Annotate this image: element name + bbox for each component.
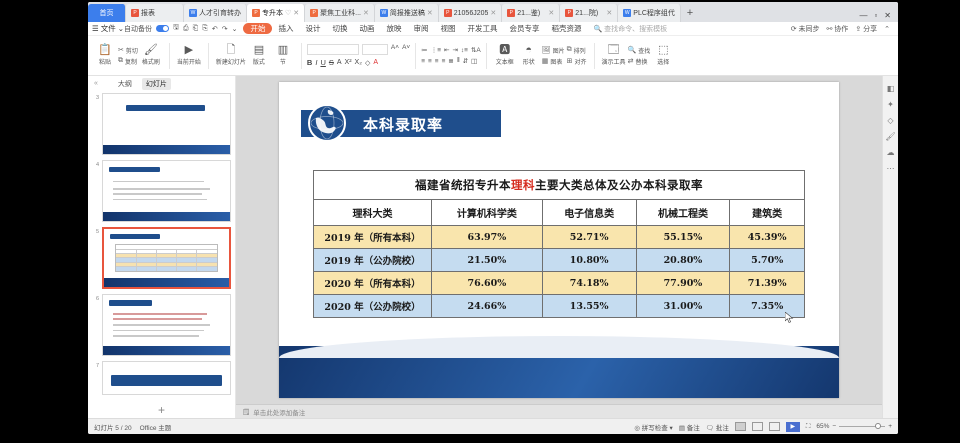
- caption-highlight: 理科: [511, 178, 535, 192]
- text-direction-icon[interactable]: ⇅A: [471, 46, 481, 54]
- new-tab-button[interactable]: +: [681, 4, 699, 22]
- bullet-list-icon[interactable]: ≔: [421, 46, 428, 54]
- tab-outline[interactable]: 大纲: [114, 78, 136, 90]
- chart-label: 图表: [550, 57, 562, 66]
- slide-thumbnail-5-selected[interactable]: [102, 227, 231, 289]
- spellcheck-button[interactable]: ◎ 拼写检查 ▾: [634, 422, 673, 432]
- ribbon-tab-member[interactable]: 会员专享: [503, 22, 545, 36]
- paste-button[interactable]: 📋 粘贴: [94, 45, 116, 66]
- doc-file-icon: W: [623, 9, 631, 17]
- ribbon-tab-docer[interactable]: 稻壳资源: [545, 22, 587, 36]
- replace-button[interactable]: ⇄ 替换: [628, 57, 651, 66]
- italic-button[interactable]: I: [315, 58, 317, 67]
- find-replace-buttons: 🔍 查找 ⇄ 替换: [628, 46, 651, 66]
- hamburger-icon: ☰: [92, 24, 99, 33]
- table-caption-row: 福建省统招专升本理科主要大类总体及公办本科录取率: [314, 171, 805, 200]
- slide-number: 6: [90, 294, 99, 302]
- copy-label: 复制: [125, 57, 137, 66]
- tab-document-2[interactable]: W 人才引育转办: [184, 4, 247, 22]
- pdf-file-icon: P: [507, 9, 515, 17]
- picture-icon: 🖼: [542, 46, 551, 54]
- line-spacing-icon[interactable]: ↕≡: [461, 47, 468, 54]
- th-category: 理科大类: [314, 200, 432, 226]
- chart-button[interactable]: ▦ 图表: [542, 57, 565, 66]
- panel-toggle-icon[interactable]: ◧: [887, 84, 895, 93]
- arrange-buttons: ⧉ 排列 ⊞ 对齐: [567, 46, 587, 66]
- tab-home[interactable]: 首页: [88, 4, 126, 22]
- slide-stage: 本科录取率 福建省统招专升本理科主要大类总体及公办本科录取率 理科大类 计算机科…: [236, 76, 882, 418]
- tab-document-4[interactable]: P 聚焦工业科... ✕: [305, 4, 375, 22]
- caption-after: 主要大类总体及公办本科录取率: [535, 178, 703, 192]
- tab-label: 简报推送稿: [390, 8, 425, 18]
- tab-label: PLC程序组代: [633, 8, 675, 18]
- zoom-in-button[interactable]: +: [888, 423, 892, 430]
- row-label: 2019 年（所有本科）: [314, 226, 432, 249]
- font-group: A˄ A˅ B I U S A X² X₂ ◇ A: [307, 44, 410, 67]
- thumb-footer: [103, 145, 230, 154]
- vertical-align-icon[interactable]: ⇵: [463, 57, 468, 65]
- slide-thumbnail-7[interactable]: [102, 361, 231, 395]
- thumbnail-entry[interactable]: 4: [88, 160, 235, 227]
- strikethrough-button[interactable]: S: [329, 58, 334, 67]
- comment-button[interactable]: 🗨 批注: [706, 422, 729, 432]
- thumbnail-entry[interactable]: 7: [88, 361, 235, 400]
- ribbon-tab-insert[interactable]: 插入: [272, 22, 299, 36]
- tab-label: 21...鉴): [517, 8, 540, 18]
- zoom-track[interactable]: [839, 426, 885, 427]
- window-controls: — ▫ ✕: [852, 11, 898, 22]
- print-preview-icon[interactable]: ⎙: [183, 25, 189, 33]
- customize-icon[interactable]: ⌄: [232, 25, 238, 33]
- find-label: 查找: [638, 46, 650, 55]
- tools-group: 🗔 演示工具 🔍 查找 ⇄ 替换 ⬚ 选择: [600, 36, 677, 75]
- start-show-button[interactable]: ▶ 当前开始: [177, 45, 201, 66]
- subscript-button[interactable]: X₂: [355, 59, 362, 66]
- cell-value: 52.71%: [542, 226, 636, 249]
- thumb-text-line: [113, 330, 204, 332]
- th-me: 机械工程类: [636, 200, 730, 226]
- main-body: « 大纲 幻灯片 3 4: [88, 76, 898, 418]
- text-effects-button[interactable]: A: [337, 59, 342, 66]
- start-show-label: 当前开始: [177, 57, 201, 66]
- toolbar-divider: [169, 43, 170, 69]
- share-button[interactable]: ⇪ 分享: [855, 24, 877, 34]
- format-painter-button[interactable]: 🖌 格式刷: [140, 45, 162, 66]
- status-bar: 幻灯片 5 / 20 Office 主题 ◎ 拼写检查 ▾ ▤ 备注 🗨 批注 …: [88, 418, 898, 434]
- slide-banner-title: 本科录取率: [363, 114, 443, 135]
- thumb-banner: [110, 234, 160, 239]
- more-icon[interactable]: ⋯: [887, 164, 895, 173]
- align-right-icon[interactable]: ≡: [435, 58, 439, 65]
- tab-document-1[interactable]: P 报表: [126, 4, 184, 22]
- reading-view-icon[interactable]: [769, 422, 780, 431]
- globe-icon: [308, 104, 346, 142]
- tab-document-6[interactable]: P 21056J205 ✕: [439, 4, 503, 22]
- slide-thumbnail-4[interactable]: [102, 160, 231, 222]
- table-caption: 福建省统招专升本理科主要大类总体及公办本科录取率: [314, 171, 805, 200]
- maximize-button[interactable]: ▫: [874, 11, 877, 20]
- media-buttons: 🖼 图片 ▦ 图表: [542, 46, 565, 66]
- arrange-icon: ⧉: [567, 46, 572, 54]
- layout-button[interactable]: ▤ 版式: [248, 45, 270, 66]
- table-row[interactable]: 2020 年（所有本科） 76.60% 74.18% 77.90% 71.39%: [314, 272, 805, 295]
- thumb-banner: [109, 167, 160, 172]
- thumb-text-line: [113, 313, 207, 315]
- ribbon-right-actions: ⟳ 未同步 ⚯ 协作 ⇪ 分享 ⌃: [791, 24, 894, 34]
- tab-document-9[interactable]: W PLC程序组代: [618, 4, 681, 22]
- thumb-banner: [126, 105, 205, 111]
- tab-document-7[interactable]: P 21...鉴) ✕: [502, 4, 560, 22]
- cell-value: 31.00%: [636, 295, 730, 318]
- table-body: 2019 年（所有本科） 63.97% 52.71% 55.15% 45.39%…: [314, 226, 805, 318]
- copy-button[interactable]: ⧉ 复制: [118, 57, 138, 66]
- thumbnail-view-tabs: « 大纲 幻灯片: [88, 76, 235, 91]
- cut-label: 剪切: [126, 46, 138, 55]
- ai-icon[interactable]: ✦: [887, 100, 894, 109]
- cell-value: 45.39%: [730, 226, 805, 249]
- align-label: 对齐: [575, 57, 587, 66]
- clear-format-icon[interactable]: ◇: [365, 59, 370, 67]
- replace-icon: ⇄: [628, 57, 634, 65]
- clipboard-small-buttons: ✂ 剪切 ⧉ 复制: [118, 46, 138, 66]
- thumbnail-scroll-area[interactable]: 3 4: [88, 91, 235, 402]
- slide-footer-graphic: [279, 346, 839, 398]
- slide-title-banner: 本科录取率: [301, 110, 501, 137]
- th-arch: 建筑类: [730, 200, 805, 226]
- sync-status-button[interactable]: ⟳ 未同步: [791, 24, 820, 34]
- paste-icon: 📋: [98, 45, 112, 56]
- shape-label: 形状: [523, 57, 535, 66]
- notes-pane[interactable]: 🗒 单击此处添加备注: [236, 404, 882, 418]
- align-buttons: ≡ ≡ ≡ ≡ ≣ ⫴ ⇵ ◫: [421, 57, 481, 65]
- thumb-footer: [104, 278, 229, 287]
- document-tab-bar: 首页 P 报表 W 人才引育转办 P 专升本 ♡ ✕ P 聚焦工业科... ✕ …: [88, 2, 898, 22]
- thumb-table-row: [116, 267, 217, 270]
- slide-thumbnail-3[interactable]: [102, 93, 231, 155]
- increase-font-icon[interactable]: A˄: [391, 44, 399, 55]
- pdf-file-icon: P: [565, 9, 573, 17]
- cell-value: 7.35%: [730, 295, 805, 318]
- paragraph-group: ≔ ⋮≡ ⇤ ⇥ ↕≡ ⇅A ≡ ≡ ≡ ≡ ≣ ⫴ ⇵ ◫: [421, 46, 481, 65]
- cell-value: 24.66%: [432, 295, 543, 318]
- chart-icon: ▦: [542, 57, 549, 65]
- picture-button[interactable]: 🖼 图片: [542, 46, 565, 55]
- tab-label: 聚焦工业科...: [320, 8, 361, 18]
- toolbar-divider: [415, 43, 416, 69]
- cell-value: 55.15%: [636, 226, 730, 249]
- thumb-text-line: [113, 188, 210, 190]
- ribbon-tab-start[interactable]: 开始: [243, 23, 272, 34]
- right-sidebar-rail: ◧ ✦ ◇ 🖌 ☁ ⋯: [882, 76, 898, 418]
- shape-button[interactable]: ◓ 形状: [518, 45, 540, 66]
- slide-number: 3: [90, 93, 99, 101]
- columns-icon[interactable]: ⫴: [457, 57, 460, 65]
- cut-button[interactable]: ✂ 剪切: [118, 46, 138, 55]
- toolbar-divider: [208, 43, 209, 69]
- section-icon: ▥: [278, 45, 288, 56]
- present-tools-button[interactable]: 🗔 演示工具: [602, 45, 626, 66]
- tab-close-icon[interactable]: ✕: [606, 9, 612, 17]
- thumb-text-line: [113, 193, 202, 195]
- tab-document-8[interactable]: P 21...院) ✕: [560, 4, 618, 22]
- tab-favorite-icon[interactable]: ♡: [285, 9, 291, 17]
- slide-canvas-area[interactable]: 本科录取率 福建省统招专升本理科主要大类总体及公办本科录取率 理科大类 计算机科…: [236, 76, 882, 404]
- new-slide-label: 新建幻灯片: [216, 57, 246, 66]
- decrease-indent-icon[interactable]: ⇤: [444, 46, 449, 54]
- thumb-footer: [103, 346, 230, 355]
- align-left-icon[interactable]: ≡: [421, 58, 425, 65]
- tab-document-3-active[interactable]: P 专升本 ♡ ✕: [247, 4, 305, 22]
- replace-label: 替换: [635, 57, 647, 66]
- slide-number: 7: [90, 361, 99, 369]
- doc-file-icon: W: [189, 9, 197, 17]
- collapse-panel-icon[interactable]: «: [94, 80, 98, 87]
- table-row[interactable]: 2019 年（公办院校） 21.50% 10.80% 20.80% 5.70%: [314, 249, 805, 272]
- select-icon: ⬚: [658, 45, 668, 56]
- ribbon-tab-slideshow[interactable]: 放映: [380, 22, 407, 36]
- autosave-label: 自动备份: [124, 24, 152, 34]
- admission-rate-table[interactable]: 福建省统招专升本理科主要大类总体及公办本科录取率 理科大类 计算机科学类 电子信…: [313, 170, 805, 318]
- toolbar-divider: [301, 43, 302, 69]
- textbox-button[interactable]: 🅰 文本框: [494, 45, 516, 66]
- cell-value: 5.70%: [730, 249, 805, 272]
- present-tools-label: 演示工具: [602, 57, 626, 66]
- cell-value: 63.97%: [432, 226, 543, 249]
- cell-value: 21.50%: [432, 249, 543, 272]
- align-icon: ⊞: [567, 57, 573, 65]
- file-menu-label: 文件: [101, 23, 116, 34]
- arrange-button[interactable]: ⧉ 排列: [567, 46, 587, 55]
- tab-label: 21...院): [575, 8, 598, 18]
- underline-button[interactable]: U: [320, 58, 325, 67]
- th-ee: 电子信息类: [542, 200, 636, 226]
- close-button[interactable]: ✕: [884, 11, 891, 20]
- minimize-button[interactable]: —: [859, 11, 867, 20]
- notes-placeholder: 单击此处添加备注: [253, 407, 305, 417]
- slide-group: 🗋 新建幻灯片 ▤ 版式 ▥ 节: [214, 36, 296, 75]
- tab-close-icon[interactable]: ✕: [490, 9, 496, 17]
- collaborate-button[interactable]: ⚯ 协作: [827, 24, 849, 34]
- font-family-select[interactable]: [307, 44, 359, 55]
- new-slide-icon: 🗋: [226, 45, 235, 56]
- cell-value: 13.55%: [542, 295, 636, 318]
- row-label: 2019 年（公办院校）: [314, 249, 432, 272]
- cell-value: 76.60%: [432, 272, 543, 295]
- thumbnail-entry[interactable]: 5: [88, 227, 235, 294]
- zoom-out-button[interactable]: −: [832, 423, 836, 430]
- layout-icon: ▤: [254, 45, 264, 56]
- textbox-icon: 🅰: [499, 45, 510, 56]
- ribbon-toolbar: 📋 粘贴 ✂ 剪切 ⧉ 复制 🖌 格式刷 ▶ 当前: [88, 36, 898, 76]
- font-format-buttons: B I U S A X² X₂ ◇ A: [307, 58, 410, 67]
- current-slide[interactable]: 本科录取率 福建省统招专升本理科主要大类总体及公办本科录取率 理科大类 计算机科…: [279, 82, 839, 398]
- format-painter-label: 格式刷: [142, 57, 160, 66]
- tab-home-label: 首页: [100, 8, 114, 18]
- wps-presentation-window: 首页 P 报表 W 人才引育转办 P 专升本 ♡ ✕ P 聚焦工业科... ✕ …: [88, 2, 898, 434]
- tab-label: 专升本: [262, 8, 283, 18]
- cut-icon: ✂: [118, 46, 124, 54]
- tab-close-icon[interactable]: ✕: [548, 9, 554, 17]
- slideshow-group: ▶ 当前开始: [175, 36, 203, 75]
- thumb-banner: [109, 300, 152, 305]
- pdf-file-icon: P: [444, 9, 452, 17]
- caption-before: 福建省统招专升本: [415, 178, 511, 192]
- tab-label: 21056J205: [454, 10, 489, 17]
- pdf-file-icon: P: [131, 9, 139, 17]
- cell-value: 74.18%: [542, 272, 636, 295]
- doc-file-icon: W: [380, 9, 388, 17]
- picture-label: 图片: [553, 46, 565, 55]
- table-row[interactable]: 2019 年（所有本科） 63.97% 52.71% 55.15% 45.39%: [314, 226, 805, 249]
- start-show-icon: ▶: [185, 45, 193, 56]
- ribbon-tab-transition[interactable]: 切换: [326, 22, 353, 36]
- save-icon[interactable]: 🖫: [173, 23, 179, 34]
- thumb-footer: [103, 212, 230, 221]
- thumbnail-entry[interactable]: 3: [88, 93, 235, 160]
- ribbon-tab-review[interactable]: 审阅: [407, 22, 434, 36]
- copy-icon: ⧉: [118, 57, 123, 65]
- cloud-icon[interactable]: ☁: [887, 148, 895, 157]
- list-buttons: ≔ ⋮≡ ⇤ ⇥ ↕≡ ⇅A: [421, 46, 481, 54]
- thumb-text-line: [113, 324, 210, 326]
- search-placeholder: 查找命令、搜索模板: [604, 24, 667, 34]
- superscript-button[interactable]: X²: [345, 59, 352, 66]
- section-button[interactable]: ▥ 节: [272, 45, 294, 66]
- notes-button[interactable]: ▤ 备注: [679, 422, 700, 432]
- add-slide-button[interactable]: +: [88, 402, 235, 418]
- zoom-knob[interactable]: [875, 423, 881, 429]
- format-painter-icon: 🖌: [144, 45, 158, 56]
- paste-label: 粘贴: [99, 57, 111, 66]
- present-tools-icon: 🗔: [608, 45, 620, 56]
- ppt-file-icon: P: [252, 9, 260, 17]
- row-label: 2020 年（公办院校）: [314, 295, 432, 318]
- brush-icon[interactable]: 🖌: [885, 132, 895, 141]
- status-right-group: ◎ 拼写检查 ▾ ▤ 备注 🗨 批注 ▶ ⛶ 65% − +: [634, 422, 892, 432]
- tab-close-icon[interactable]: ✕: [363, 9, 369, 17]
- select-label: 选择: [657, 57, 669, 66]
- increase-indent-icon[interactable]: ⇥: [452, 46, 457, 54]
- undo-icon[interactable]: ↶: [212, 25, 218, 33]
- toolbar-divider: [486, 43, 487, 69]
- thumb-banner: [111, 375, 223, 387]
- cell-value: 77.90%: [636, 272, 730, 295]
- tab-label: 报表: [141, 8, 155, 18]
- shape-tools-icon[interactable]: ◇: [887, 116, 893, 125]
- shape-icon: ◓: [525, 45, 532, 56]
- tab-slides[interactable]: 幻灯片: [142, 78, 171, 90]
- slide-thumbnail-6[interactable]: [102, 294, 231, 356]
- ribbon-tab-developer[interactable]: 开发工具: [461, 22, 503, 36]
- thumb-text-line: [113, 199, 207, 201]
- distribute-icon[interactable]: ≣: [448, 57, 453, 65]
- ribbon-tab-animation[interactable]: 动画: [353, 22, 380, 36]
- table-row[interactable]: 2020 年（公办院校） 24.66% 13.55% 31.00% 7.35%: [314, 295, 805, 318]
- thumb-text-line: [113, 335, 199, 337]
- ppt-file-icon: P: [310, 9, 318, 17]
- slide-number: 4: [90, 160, 99, 168]
- autosave-toggle[interactable]: [156, 25, 169, 32]
- theme-name[interactable]: Office 主题: [140, 422, 172, 432]
- redo-icon[interactable]: ↷: [222, 25, 228, 33]
- thumbnail-entry[interactable]: 6: [88, 294, 235, 361]
- textbox-label: 文本框: [496, 57, 514, 66]
- thumb-text-line: [113, 181, 204, 183]
- th-cs: 计算机科学类: [432, 200, 543, 226]
- normal-view-icon[interactable]: [735, 422, 746, 431]
- tab-label: 人才引育转办: [199, 8, 241, 18]
- table-head: 福建省统招专升本理科主要大类总体及公办本科录取率 理科大类 计算机科学类 电子信…: [314, 171, 805, 226]
- tab-close-icon[interactable]: ✕: [293, 9, 299, 17]
- fit-slide-icon[interactable]: ⛶: [806, 423, 811, 431]
- align-button[interactable]: ⊞ 对齐: [567, 57, 587, 66]
- convert-smartart-icon[interactable]: ◫: [471, 57, 477, 65]
- ribbon-tab-view[interactable]: 视图: [434, 22, 461, 36]
- new-slide-button[interactable]: 🗋 新建幻灯片: [216, 45, 246, 66]
- ribbon-tab-design[interactable]: 设计: [299, 22, 326, 36]
- notes-icon: 🗒: [242, 408, 250, 416]
- align-center-icon[interactable]: ≡: [428, 58, 432, 65]
- search-icon: 🔍: [593, 25, 602, 33]
- print-icon[interactable]: ⎗: [193, 25, 199, 33]
- ribbon-tab-bar: ☰ 文件 ⌄ 自动备份 🖫 ⎙ ⎗ ⎘ ↶ ↷ ⌄ 开始 插入 设计 切换 动画…: [88, 22, 898, 36]
- bold-button[interactable]: B: [307, 58, 312, 67]
- slide-sorter-icon[interactable]: [752, 422, 763, 431]
- decrease-font-icon[interactable]: A˅: [402, 44, 410, 55]
- slide-counter: 幻灯片 5 / 20: [94, 422, 132, 432]
- file-menu-button[interactable]: ☰ 文件 ⌄: [92, 23, 124, 34]
- number-list-icon[interactable]: ⋮≡: [431, 46, 441, 54]
- find-icon: 🔍: [628, 46, 637, 54]
- collapse-ribbon-icon[interactable]: ⌃: [884, 25, 890, 33]
- select-button[interactable]: ⬚ 选择: [652, 45, 674, 66]
- find-button[interactable]: 🔍 查找: [628, 46, 651, 55]
- font-size-select[interactable]: [362, 44, 388, 55]
- cell-value: 71.39%: [730, 272, 805, 295]
- tab-document-5[interactable]: W 简报推送稿 ✕: [375, 4, 439, 22]
- insert-object-group: 🅰 文本框 ◓ 形状 🖼 图片 ▦ 图表 ⧉ 排列: [492, 36, 589, 75]
- slide-number: 5: [90, 227, 99, 235]
- zoom-slider[interactable]: 65% − +: [816, 423, 892, 430]
- section-label: 节: [280, 57, 286, 66]
- thumb-text-line: [113, 318, 202, 320]
- tab-close-icon[interactable]: ✕: [427, 9, 433, 17]
- toolbar-divider: [594, 43, 595, 69]
- layout-label: 版式: [253, 57, 265, 66]
- cell-value: 20.80%: [636, 249, 730, 272]
- table-header-row: 理科大类 计算机科学类 电子信息类 机械工程类 建筑类: [314, 200, 805, 226]
- arrange-label: 排列: [574, 46, 586, 55]
- slide-thumbnail-panel: « 大纲 幻灯片 3 4: [88, 76, 236, 418]
- thumb-table: [115, 244, 218, 272]
- font-color-icon[interactable]: A: [373, 59, 378, 66]
- clipboard-group: 📋 粘贴 ✂ 剪切 ⧉ 复制 🖌 格式刷: [92, 36, 164, 75]
- command-search[interactable]: 🔍 查找命令、搜索模板: [593, 24, 667, 34]
- justify-icon[interactable]: ≡: [442, 58, 446, 65]
- start-slideshow-button[interactable]: ▶: [786, 422, 800, 432]
- zoom-level-label: 65%: [816, 423, 829, 430]
- cell-value: 10.80%: [542, 249, 636, 272]
- row-label: 2020 年（所有本科）: [314, 272, 432, 295]
- quick-access-toolbar: 自动备份 🖫 ⎙ ⎗ ⎘ ↶ ↷ ⌄: [124, 23, 243, 34]
- quick-print-icon[interactable]: ⎘: [202, 25, 208, 33]
